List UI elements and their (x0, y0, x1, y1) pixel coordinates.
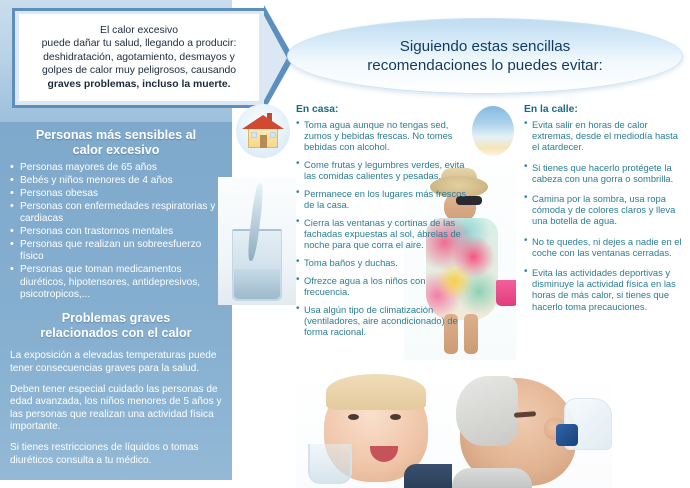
toddler-hair (326, 374, 426, 410)
house-icon-door (260, 135, 267, 148)
pink-bucket (496, 280, 516, 306)
speech-bubble-tail-inner (261, 10, 287, 106)
water-bottle-cap (556, 424, 578, 446)
list-item: Personas con enfermedades respiratorias … (10, 201, 226, 226)
list-item: Permanece en los lugares más frescos de … (296, 188, 468, 210)
bottom-white-strip (0, 480, 232, 488)
serious-problems-paragraph: Deben tener especial cuidado las persona… (0, 384, 232, 433)
list-item: Toma agua aunque no tengas sed, zumos y … (296, 119, 468, 153)
list-item: Come frutas y legumbres verdes, evita la… (296, 159, 468, 181)
list-item: Ofrezce agua a los niños con frecuencia. (296, 275, 468, 297)
speech-bubble-text: El calor excesivo puede dañar tu salud, … (37, 24, 242, 92)
toddler-eye (390, 414, 401, 420)
serious-problems-heading-line2: relacionados con el calor (8, 326, 224, 341)
sensitive-people-heading: Personas más sensibles al calor excesivo (0, 128, 232, 158)
sensitive-people-list: Personas mayores de 65 años Bebés y niño… (0, 162, 232, 301)
serious-problems-heading: Problemas graves relacionados con el cal… (0, 311, 232, 341)
speech-bubble-body: El calor excesivo puede dañar tu salud, … (19, 14, 259, 101)
elderly-man-hair (456, 376, 518, 446)
bubble-line-3: deshidratación, agotamiento, desmayos y (42, 51, 237, 65)
banner-line-1: Siguiendo estas sencillas (367, 37, 603, 56)
elderly-man-shoulder (452, 468, 532, 488)
glass-water-fill (234, 269, 280, 299)
en-casa-column: En casa: Toma agua aunque no tengas sed,… (296, 104, 468, 344)
list-item: Bebés y niños menores de 4 años (10, 175, 226, 187)
en-la-calle-list: Evita salir en horas de calor extremas, … (524, 119, 686, 312)
bubble-line-5: graves problemas, incluso la muerte. (42, 78, 237, 92)
list-item: Personas mayores de 65 años (10, 162, 226, 174)
house-icon-roof (242, 115, 284, 129)
bubble-line-2: puede dañar tu salud, llegando a produci… (42, 37, 237, 51)
list-item: Personas que toman medicamentos diurétic… (10, 264, 226, 301)
heat-wave-infographic-poster: Personas más sensibles al calor excesivo… (0, 0, 690, 488)
list-item: Camina por la sombra, usa ropa cómoda y … (524, 193, 686, 227)
house-icon-window (270, 132, 276, 138)
serious-problems-paragraph: Si tienes restricciones de líquidos o to… (0, 442, 232, 467)
serious-problems-heading-line1: Problemas graves (8, 311, 224, 326)
en-la-calle-column: En la calle: Evita salir en horas de cal… (524, 104, 686, 321)
list-item: Personas que realizan un sobreesfuerzo f… (10, 239, 226, 264)
bubble-line-4: golpes de calor muy peligrosos, causando (42, 64, 237, 78)
bubble-line-1: El calor excesivo (42, 24, 237, 38)
list-item: Usa algún tipo de climatización (ventila… (296, 304, 468, 338)
list-item: Personas con trastornos mentales (10, 226, 226, 238)
house-icon (236, 104, 290, 158)
en-casa-heading: En casa: (296, 104, 468, 115)
sky-sun-icon (472, 106, 514, 156)
list-item: Evita salir en horas de calor extremas, … (524, 119, 686, 153)
house-icon-window (251, 132, 257, 138)
list-item: Cierra las ventanas y cortinas de las fa… (296, 217, 468, 251)
glass-of-water-photo (218, 177, 296, 305)
elderly-man-drinking-water-photo (452, 368, 612, 488)
list-item: Evita las actividades deportivas y dismi… (524, 267, 686, 312)
list-item: Si tienes que hacerlo protégete la cabez… (524, 162, 686, 184)
toddler-shirt (404, 464, 452, 488)
sensitive-people-heading-line1: Personas más sensibles al (8, 128, 224, 143)
smiling-toddler-with-glass-photo (296, 368, 452, 488)
list-item: Toma baños y duchas. (296, 257, 468, 268)
list-item: No te quedes, ni dejes a nadie en el coc… (524, 236, 686, 258)
en-la-calle-heading: En la calle: (524, 104, 686, 115)
warning-speech-bubble: El calor excesivo puede dañar tu salud, … (12, 8, 265, 108)
en-casa-list: Toma agua aunque no tengas sed, zumos y … (296, 119, 468, 337)
sensitive-people-heading-line2: calor excesivo (8, 143, 224, 158)
toddler-drinking-glass (308, 444, 352, 484)
toddler-eye (348, 414, 359, 420)
left-information-panel: Personas más sensibles al calor excesivo… (0, 122, 232, 480)
recommendations-banner: Siguiendo estas sencillas recomendacione… (287, 18, 683, 94)
serious-problems-paragraph: La exposición a elevadas temperaturas pu… (0, 350, 232, 375)
banner-line-2: recomendaciones lo puedes evitar: (367, 56, 603, 75)
recommendations-banner-text: Siguiendo estas sencillas recomendacione… (367, 37, 603, 75)
list-item: Personas obesas (10, 188, 226, 200)
